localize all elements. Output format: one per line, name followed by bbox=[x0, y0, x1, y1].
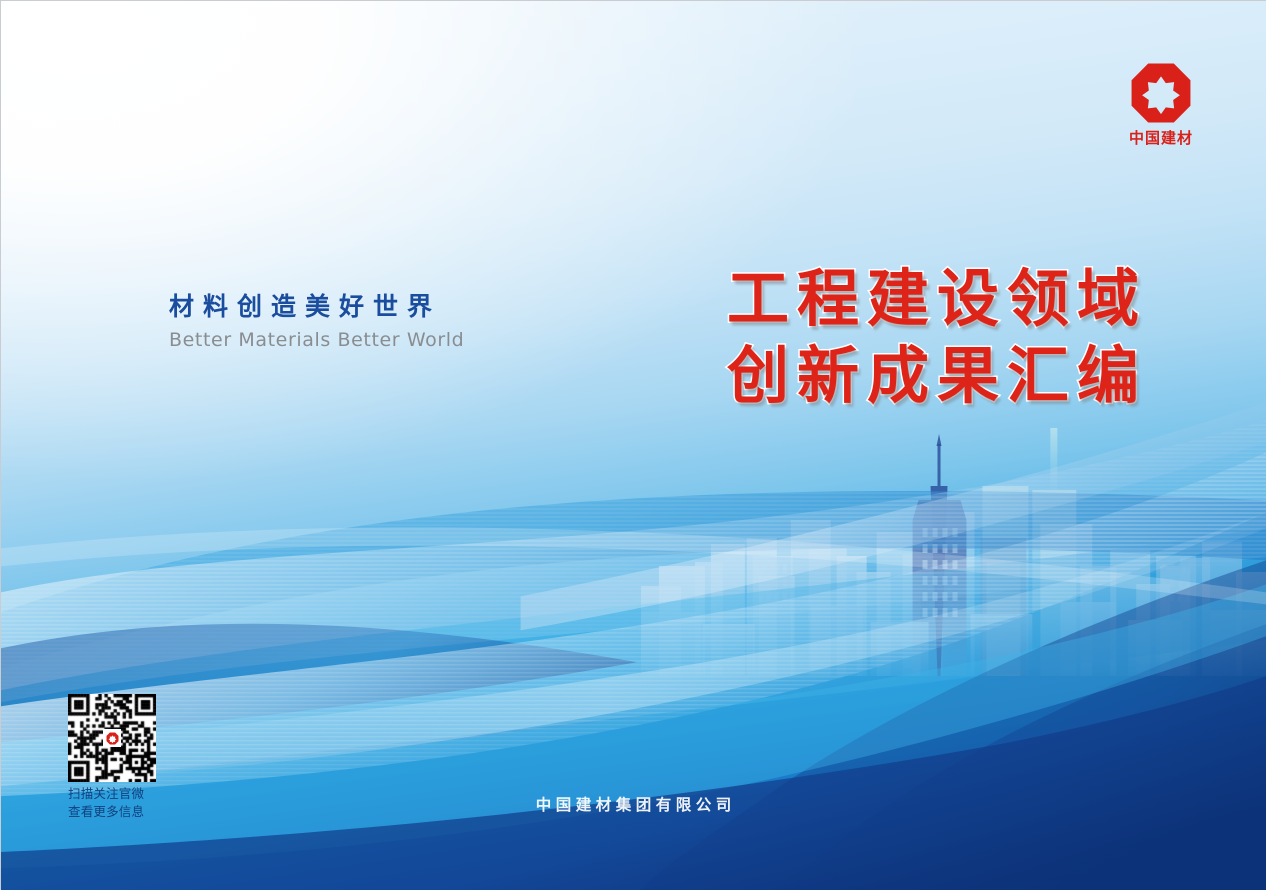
title-line-1: 工程建设领域 bbox=[727, 261, 1175, 338]
brand-slogan: 材料创造美好世界 Better Materials Better World bbox=[169, 291, 464, 352]
title-line-2: 创新成果汇编 bbox=[727, 338, 1175, 415]
company-name: 中国建材集团有限公司 bbox=[1, 793, 1266, 815]
qr-center-logo bbox=[103, 729, 121, 747]
slogan-chinese: 材料创造美好世界 bbox=[169, 291, 464, 322]
octagon-star-logo-icon bbox=[1129, 61, 1193, 125]
brochure-cover: 中国建材 材料创造美好世界 Better Materials Better Wo… bbox=[0, 0, 1266, 890]
qr-code-icon[interactable] bbox=[68, 694, 156, 782]
corporate-logo: 中国建材 bbox=[1119, 61, 1203, 146]
flowing-ribbon-waves-icon bbox=[1, 1, 1266, 890]
slogan-english: Better Materials Better World bbox=[169, 329, 464, 352]
page-title: 工程建设领域 创新成果汇编 bbox=[727, 261, 1175, 415]
logo-wordmark: 中国建材 bbox=[1119, 131, 1203, 146]
octagon-star-logo-icon bbox=[106, 732, 119, 745]
